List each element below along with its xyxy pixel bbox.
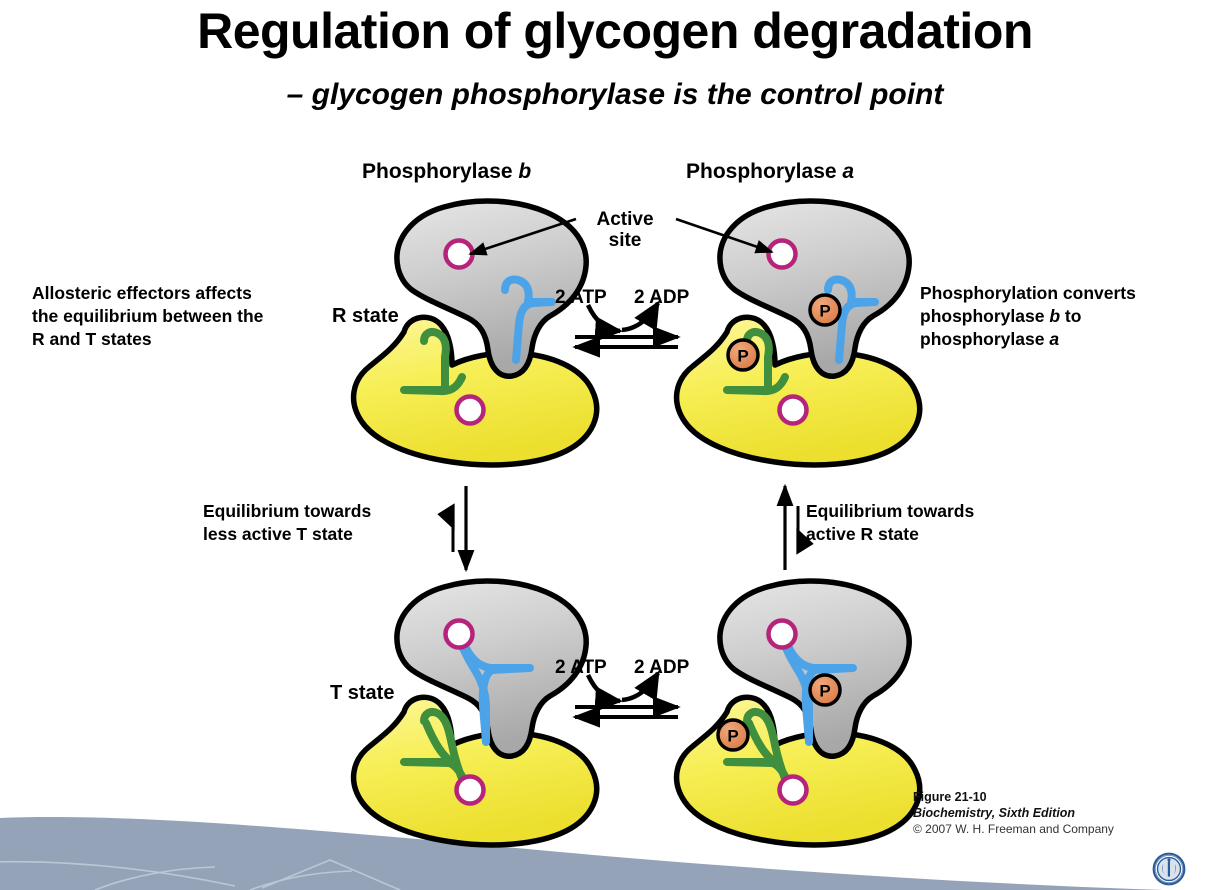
phosphorylase-b-t-state <box>354 581 597 845</box>
phosphorylase-a-t-state: P P <box>677 581 920 845</box>
atp-label-top: 2 ATP <box>555 287 607 309</box>
phosphate-badge-upper: P <box>810 295 840 325</box>
phosphorylation-note-line3-pre: phosphorylase <box>920 329 1049 349</box>
lower-subunit-yellow <box>677 697 920 845</box>
column-header-b-italic: b <box>518 160 531 183</box>
adp-label-bottom: 2 ADP <box>634 657 689 679</box>
phosphorylation-note-line2-italic: b <box>1049 306 1060 326</box>
phosphorylation-note-line1: Phosphorylation converts <box>920 283 1136 303</box>
figure-copyright: © 2007 W. H. Freeman and Company <box>913 822 1114 838</box>
active-site-lower <box>780 777 807 804</box>
column-header-a-italic: a <box>842 160 854 183</box>
active-site-upper <box>446 241 473 268</box>
r-state-label: R state <box>332 305 399 328</box>
phosphate-badge-label: P <box>737 347 748 366</box>
allosteric-effectors-note: Allosteric effectors affects the equilib… <box>32 282 277 351</box>
figure-source: Biochemistry, Sixth Edition <box>913 805 1114 821</box>
phosphate-badge-label: P <box>727 727 738 746</box>
glycogen-phosphorylase-diagram: P P P <box>0 0 1230 890</box>
phosphorylation-note-line2-post: to <box>1060 306 1081 326</box>
reaction-arrows-top <box>575 303 678 347</box>
figure-credit: Figure 21-10 Biochemistry, Sixth Edition… <box>913 789 1114 837</box>
column-header-phosphorylase-a: Phosphorylase a <box>686 160 854 184</box>
phosphate-badge-lower: P <box>718 720 748 750</box>
column-header-phosphorylase-b: Phosphorylase b <box>362 160 531 184</box>
active-site-caption: Active site <box>575 209 675 252</box>
lower-subunit-yellow <box>354 317 597 465</box>
phosphorylation-note-line3-italic: a <box>1049 329 1059 349</box>
lower-subunit-yellow <box>354 697 597 845</box>
equilibrium-note-right: Equilibrium towards active R state <box>806 500 1046 546</box>
active-site-upper <box>769 621 796 648</box>
slide-canvas: Regulation of glycogen degradation – gly… <box>0 0 1230 890</box>
phosphate-badge-upper: P <box>810 675 840 705</box>
phosphorylase-a-r-state: P P <box>677 201 920 465</box>
phosphate-badge-lower: P <box>728 340 758 370</box>
t-state-label: T state <box>330 682 394 705</box>
active-site-upper <box>769 241 796 268</box>
phosphorylation-note-line2-pre: phosphorylase <box>920 306 1049 326</box>
phosphorylase-b-r-state <box>354 201 597 465</box>
atp-label-bottom: 2 ATP <box>555 657 607 679</box>
active-site-upper <box>446 621 473 648</box>
phosphorylation-note: Phosphorylation convertsphosphorylase b … <box>920 282 1200 351</box>
phosphate-badge-label: P <box>819 682 830 701</box>
active-site-lower <box>457 397 484 424</box>
equilibrium-arrow-left <box>453 486 466 570</box>
active-site-lower <box>780 397 807 424</box>
equilibrium-arrow-right <box>785 486 798 570</box>
reaction-arrows-bottom <box>575 673 678 717</box>
active-site-lower <box>457 777 484 804</box>
university-seal-logo <box>1152 852 1186 886</box>
equilibrium-note-left: Equilibrium towards less active T state <box>203 500 443 546</box>
phosphate-badge-label: P <box>819 302 830 321</box>
lower-subunit-yellow <box>677 317 920 465</box>
figure-number: Figure 21-10 <box>913 789 1114 805</box>
column-header-a-text: Phosphorylase <box>686 160 842 183</box>
column-header-b-text: Phosphorylase <box>362 160 518 183</box>
adp-label-top: 2 ADP <box>634 287 689 309</box>
